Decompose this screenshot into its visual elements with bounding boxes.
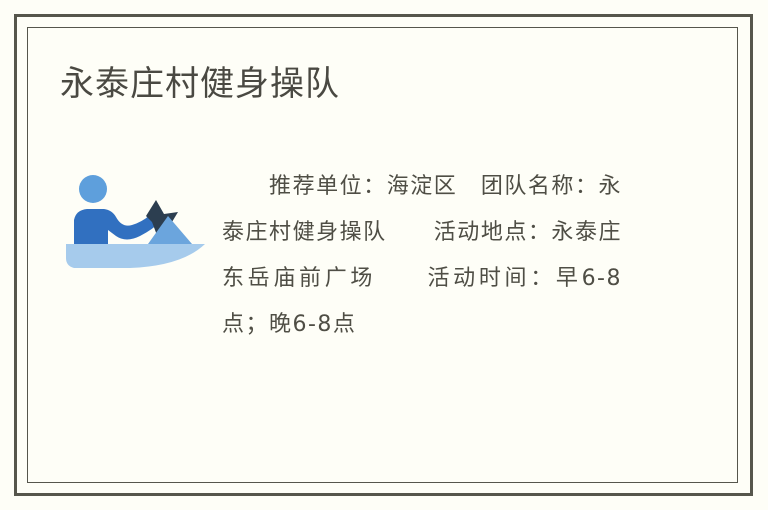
team-info-paragraph: 推荐单位：海淀区 团队名称：永泰庄村健身操队 活动地点：永泰庄东岳庙前广场 活动… (222, 164, 622, 348)
rowing-figure-icon (60, 170, 205, 270)
document-page: 永泰庄村健身操队 推荐单位：海淀区 团队名称：永泰庄村健身操队 活动地点：永泰庄… (0, 0, 768, 510)
page-title: 永泰庄村健身操队 (60, 63, 340, 105)
